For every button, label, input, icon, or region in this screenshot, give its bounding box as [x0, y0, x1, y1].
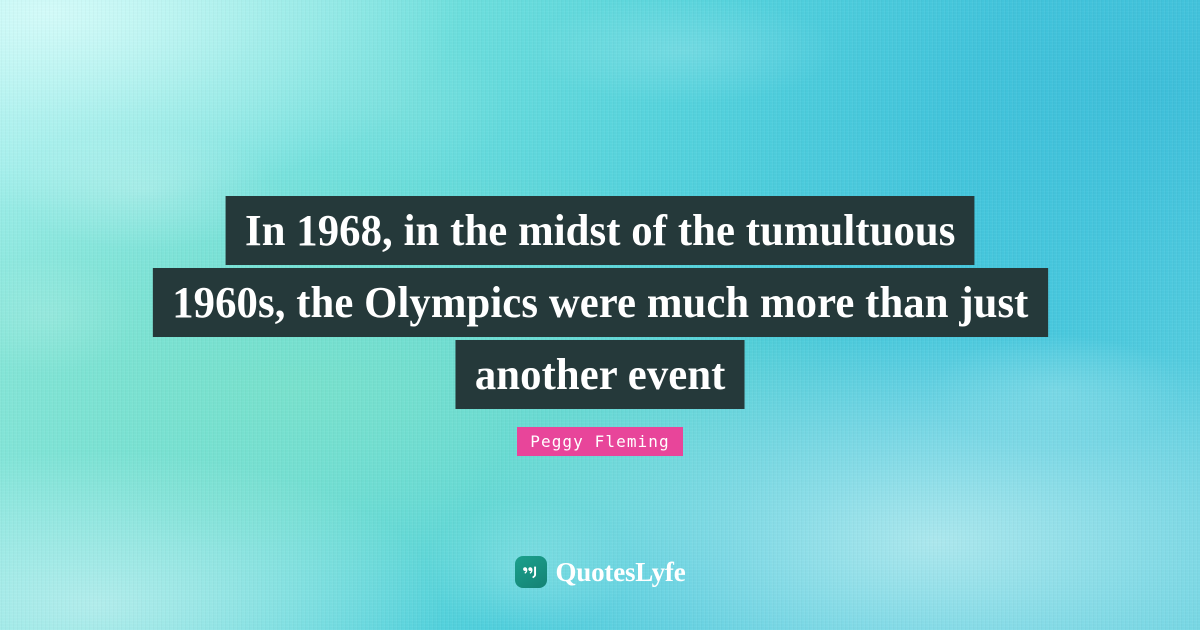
author-attribution-row: Peggy Fleming [0, 427, 1200, 456]
quote-line-text: In 1968, in the midst of the tumultuous [225, 196, 974, 265]
quote-card: In 1968, in the midst of the tumultuous … [0, 0, 1200, 630]
quote-line-text: another event [455, 340, 744, 409]
quote-line: another event [0, 340, 1200, 409]
quote-line: 1960s, the Olympics were much more than … [0, 268, 1200, 337]
quote-line-text: 1960s, the Olympics were much more than … [152, 268, 1047, 337]
quote-text-block: In 1968, in the midst of the tumultuous … [0, 196, 1200, 409]
author-name-badge: Peggy Fleming [517, 427, 683, 456]
quotation-mark-icon [515, 556, 547, 588]
brand-wordmark: QuotesLyfe [556, 556, 686, 588]
quote-line: In 1968, in the midst of the tumultuous [0, 196, 1200, 265]
brand-logo: QuotesLyfe [0, 556, 1200, 588]
